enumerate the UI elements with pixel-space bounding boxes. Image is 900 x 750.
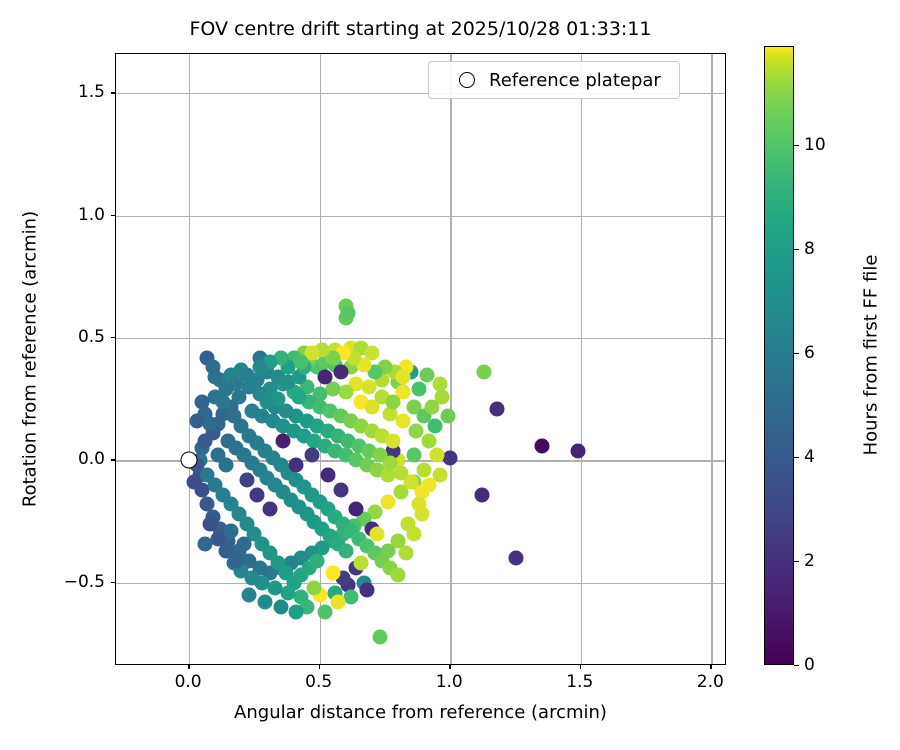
plot-axes [115,53,726,665]
legend-item-label: Reference platepar [489,70,667,91]
scatter-point [440,409,455,424]
scatter-point [203,416,218,431]
scatter-point [443,450,458,465]
gridline-vertical [581,54,582,664]
scatter-point [257,595,272,610]
colorbar-label-text: Hours from first FF file [861,255,882,456]
x-axis-tick [188,665,189,669]
scatter-point [474,487,489,502]
y-axis-tick-label: 0.5 [105,327,132,347]
gridline-vertical [711,54,712,664]
scatter-point [391,568,406,583]
x-axis-tick [319,665,320,669]
scatter-point [417,463,432,478]
page-title: FOV centre drift starting at 2025/10/28 … [115,18,726,40]
scatter-point [435,389,450,404]
scatter-point [242,588,257,603]
x-axis-tick-label: 1.0 [436,672,463,692]
scatter-point [250,487,265,502]
scatter-point [508,551,523,566]
scatter-point [187,475,202,490]
scatter-point [344,590,359,605]
x-axis-tick [580,665,581,669]
gridline-vertical [450,54,451,664]
scatter-point [370,526,385,541]
scatter-point [203,517,218,532]
colorbar-tick [794,145,799,146]
scatter-point [427,419,442,434]
gridline-horizontal [116,460,725,461]
scatter-point [236,536,251,551]
x-axis-label: Angular distance from reference (arcmin) [115,702,726,723]
scatter-point [396,414,411,429]
scatter-point [289,605,304,620]
scatter-point [218,458,233,473]
scatter-point [325,565,340,580]
y-axis-label-text: Rotation from reference (arcmin) [20,211,41,507]
scatter-point [281,585,296,600]
scatter-point [294,355,309,370]
scatter-point [320,468,335,483]
scatter-point [411,382,426,397]
scatter-point [430,448,445,463]
scatter-point [229,553,244,568]
scatter-point [391,534,406,549]
y-axis-tick-label: 0.0 [105,449,132,469]
gridline-vertical [189,54,190,664]
scatter-point [200,497,215,512]
x-axis-tick-label: 0.5 [305,672,332,692]
scatter-point [380,494,395,509]
gridline-horizontal [116,338,725,339]
scatter-point [260,394,275,409]
scatter-point [411,497,426,512]
scatter-point [571,443,586,458]
x-axis-tick-label: 1.5 [566,672,593,692]
scatter-point [354,556,369,571]
x-axis-tick-label: 0.0 [175,672,202,692]
scatter-point [263,502,278,517]
scatter-point [307,580,322,595]
scatter-point [338,543,353,558]
scatter-point [333,365,348,380]
colorbar-tick [794,457,799,458]
scatter-point [289,458,304,473]
scatter-point [359,583,374,598]
scatter-point [490,401,505,416]
scatter-point [273,600,288,615]
scatter-point [432,468,447,483]
scatter-point [291,389,306,404]
scatter-point [341,306,356,321]
scatter-point [406,448,421,463]
colorbar-tick [794,249,799,250]
reference-platepar-marker-icon [459,72,475,88]
scatter-point [333,482,348,497]
scatter-point [372,629,387,644]
scatter-point [419,367,434,382]
scatter-point [317,605,332,620]
colorbar-tick-label: 0 [804,655,815,675]
y-axis-tick-label: −0.5 [105,572,146,592]
colorbar-tick [794,561,799,562]
x-axis-tick [710,665,711,669]
scatter-point [330,595,345,610]
x-axis-tick [449,665,450,669]
x-axis-tick-label: 2.0 [697,672,724,692]
plot-data-area [116,54,725,664]
scatter-point [385,433,400,448]
scatter-point [195,394,210,409]
scatter-point [349,502,364,517]
scatter-point [223,524,238,539]
scatter-point [276,433,291,448]
scatter-point [189,414,204,429]
reference-platepar-point [181,452,198,469]
colorbar-tick-label: 10 [804,135,826,155]
legend: Reference platepar [428,61,680,99]
y-axis-tick-label: 1.5 [105,82,132,102]
y-axis-tick-label: 1.0 [105,205,132,225]
colorbar-tick-label: 6 [804,343,815,363]
scatter-point [252,360,267,375]
scatter-plot-figure: FOV centre drift starting at 2025/10/28 … [0,0,900,750]
scatter-point [534,438,549,453]
scatter-point [218,382,233,397]
scatter-point [239,472,254,487]
scatter-point [268,580,283,595]
scatter-point [317,370,332,385]
colorbar-tick-label: 4 [804,447,815,467]
scatter-point [385,394,400,409]
colorbar-tick [794,665,799,666]
colorbar-tick [794,353,799,354]
scatter-point [401,517,416,532]
scatter-point [409,423,424,438]
scatter-point [197,433,212,448]
colorbar-tick-label: 2 [804,551,815,571]
scatter-point [310,553,325,568]
scatter-point [362,379,377,394]
gridline-horizontal [116,583,725,584]
scatter-point [338,384,353,399]
gridline-horizontal [116,216,725,217]
colorbar-gradient [764,46,794,665]
colorbar [764,46,794,665]
scatter-point [205,360,220,375]
scatter-point [304,448,319,463]
scatter-point [396,370,411,385]
colorbar-tick-label: 8 [804,239,815,259]
scatter-point [422,433,437,448]
scatter-point [477,365,492,380]
